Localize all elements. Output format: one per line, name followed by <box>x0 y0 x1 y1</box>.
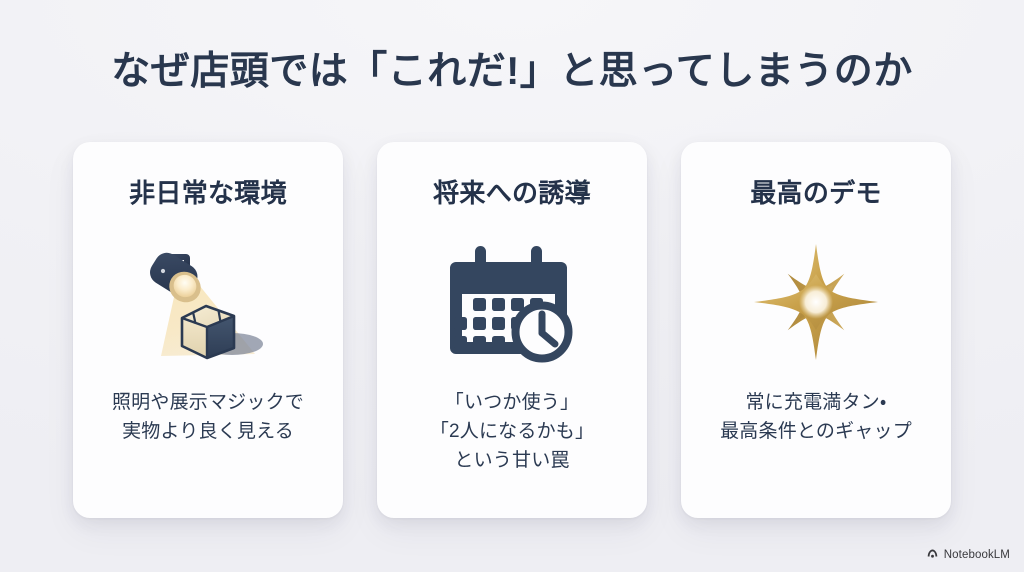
card-future-inducement[interactable]: 将来への誘導 <box>377 142 647 518</box>
card-body-line: という甘い罠 <box>377 446 647 475</box>
card-body-line: 「いつか使う」 <box>377 388 647 417</box>
card-body: 常に充電満タン・ 最高条件とのギャップ <box>681 388 951 446</box>
card-body-line: 常に充電満タン・ <box>681 388 951 417</box>
card-title: 非日常な環境 <box>129 176 287 210</box>
notebooklm-watermark: NotebookLM <box>926 547 1010 563</box>
watermark-label: NotebookLM <box>944 549 1010 561</box>
card-unusual-environment[interactable]: 非日常な環境 <box>73 142 343 518</box>
gold-sparkle-icon <box>741 236 891 368</box>
card-body-line: 「2人になるかも」 <box>377 417 647 446</box>
card-body-line: 実物より良く見える <box>73 417 343 446</box>
card-body-line: 照明や展示マジックで <box>73 388 343 417</box>
card-body-line: 最高条件とのギャップ <box>681 417 951 446</box>
card-title: 将来への誘導 <box>433 176 591 210</box>
spotlight-box-icon <box>133 236 283 368</box>
card-best-demo[interactable]: 最高のデモ <box>681 142 951 518</box>
notebooklm-icon <box>926 547 939 563</box>
card-body: 「いつか使う」 「2人になるかも」 という甘い罠 <box>377 388 647 475</box>
card-grid: 非日常な環境 <box>73 142 951 518</box>
slide-canvas: なぜ店頭では「これだ!」と思ってしまうのか 非日常な環境 <box>0 0 1024 572</box>
page-title: なぜ店頭では「これだ!」と思ってしまうのか <box>0 48 1024 96</box>
card-title: 最高のデモ <box>750 176 882 210</box>
calendar-clock-icon <box>437 236 587 368</box>
card-body: 照明や展示マジックで 実物より良く見える <box>73 388 343 446</box>
